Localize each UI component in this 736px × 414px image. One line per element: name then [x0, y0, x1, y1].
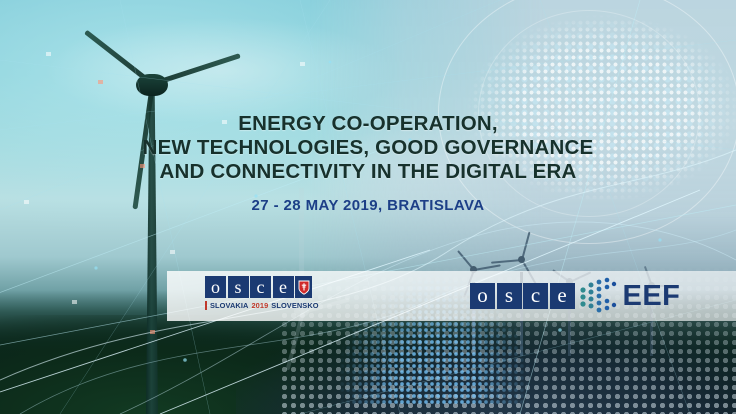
osce-letter-s: s: [228, 276, 249, 298]
title-block: ENERGY CO-OPERATION, NEW TECHNOLOGIES, G…: [0, 112, 736, 214]
osce-slovakia-chairmanship-logo[interactable]: o s c e SLOVAKIA 2019 SLOVENSKO: [205, 276, 333, 316]
light-speck: [46, 52, 51, 56]
osce-letter-o: o: [470, 283, 495, 309]
title-line-3: AND CONNECTIVITY IN THE DIGITAL ERA: [0, 160, 736, 184]
conference-banner: ENERGY CO-OPERATION, NEW TECHNOLOGIES, G…: [0, 0, 736, 414]
eef-dot-fan-icon: [579, 277, 619, 315]
osce-letter-s: s: [497, 283, 522, 309]
eef-wordmark: EEF: [623, 282, 681, 311]
osce-letter-row: o s c e: [205, 276, 333, 298]
country-label-sk: SLOVENSKO: [271, 301, 318, 310]
light-speck: [72, 300, 77, 304]
slovakia-coat-of-arms-icon: [295, 276, 312, 298]
light-speck: [98, 80, 103, 84]
chairmanship-year: 2019: [251, 301, 268, 310]
light-speck: [150, 330, 155, 334]
light-speck: [300, 62, 305, 66]
title-line-1: ENERGY CO-OPERATION,: [0, 112, 736, 136]
osce-letter-o: o: [205, 276, 226, 298]
chairmanship-subtitle: SLOVAKIA 2019 SLOVENSKO: [205, 301, 333, 310]
title-line-2: NEW TECHNOLOGIES, GOOD GOVERNANCE: [0, 136, 736, 160]
osce-eef-logo[interactable]: o s c e EEF: [470, 277, 680, 315]
light-speck: [170, 250, 175, 254]
turbine-hub: [136, 74, 168, 96]
osce-letter-c: c: [250, 276, 271, 298]
country-label-en: SLOVAKIA: [210, 301, 248, 310]
date-location-text: 27 - 28 MAY 2019, BRATISLAVA: [0, 197, 736, 214]
osce-letter-row: o s c e: [470, 283, 575, 309]
osce-letter-e: e: [550, 283, 575, 309]
osce-letter-c: c: [523, 283, 548, 309]
osce-letter-e: e: [273, 276, 294, 298]
